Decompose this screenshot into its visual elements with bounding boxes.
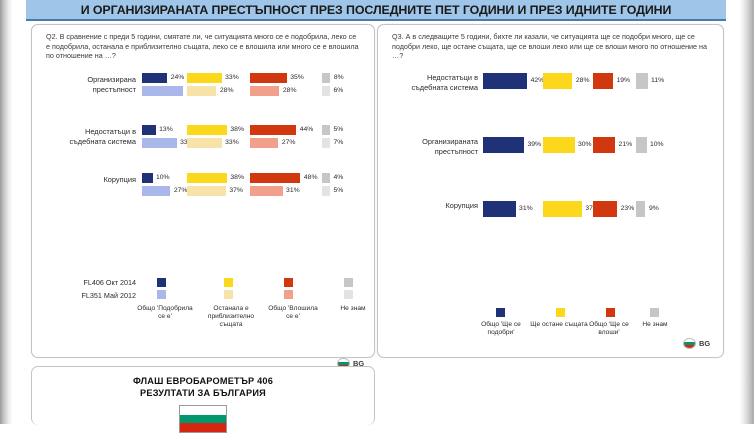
bar-value-label: 19%: [614, 73, 633, 89]
legend-swatch: [344, 278, 353, 287]
bar-segment: [250, 173, 300, 183]
bar-value-label: 33%: [223, 73, 242, 83]
page-left-gutter: [0, 0, 12, 424]
bar-value-label: 31%: [517, 201, 536, 217]
bar-segment: [636, 137, 647, 153]
legend-category-label: Не знам: [324, 305, 382, 313]
chart-q3: Недостатъци всъдебната система42%28%19%1…: [378, 73, 723, 273]
page-right-gutter: [740, 0, 754, 424]
legend-swatch: [606, 308, 615, 317]
bar-value-label: 48%: [301, 173, 320, 183]
legend-category-label: Общо 'Ще се подобри': [472, 321, 530, 337]
bar-value-label: 4%: [331, 173, 346, 183]
question-q2-text: Q2. В сравнение с преди 5 години, смятат…: [46, 32, 362, 61]
legend-swatch: [556, 308, 565, 317]
legend-swatch: [650, 308, 659, 317]
bar-value-label: 13%: [157, 125, 176, 135]
bar-value-label: 23%: [618, 201, 637, 217]
legend-swatch: [224, 278, 233, 287]
bar-segment: [593, 137, 615, 153]
legend-swatch: [157, 290, 166, 299]
chart-row-label: Корупция: [378, 201, 484, 211]
bar-segment: [187, 186, 226, 196]
footer-title: ФЛАШ ЕВРОБАРОМЕТЪР 406 РЕЗУЛТАТИ ЗА БЪЛГ…: [32, 375, 374, 399]
bar-segment: [322, 73, 330, 83]
bar-segment: [250, 186, 283, 196]
bar-value-label: 5%: [331, 125, 346, 135]
bar-segment: [543, 201, 582, 217]
bar-segment: [142, 73, 167, 83]
legend-series-name: FL406 Окт 2014: [32, 277, 136, 290]
bar-value-label: 30%: [576, 137, 595, 153]
bg-flag-icon: [683, 338, 696, 349]
bar-segment: [322, 186, 330, 196]
legend-series-names: FL406 Окт 2014FL351 Май 2012: [32, 277, 136, 302]
bar-segment: [142, 86, 183, 96]
bar-segment: [187, 86, 216, 96]
bar-value-label: 6%: [331, 86, 346, 96]
bar-value-label: 31%: [284, 186, 303, 196]
bar-segment: [322, 86, 330, 96]
panel-q2: Q2. В сравнение с преди 5 години, смятат…: [31, 24, 375, 358]
bar-value-label: 10%: [648, 137, 667, 153]
bar-value-label: 38%: [228, 125, 247, 135]
legend-swatch: [157, 278, 166, 287]
bar-value-label: 35%: [288, 73, 307, 83]
bar-value-label: 39%: [525, 137, 544, 153]
bar-segment: [187, 138, 222, 148]
bar-value-label: 28%: [217, 86, 236, 96]
country-flag-q3: BG: [683, 338, 710, 349]
chart-row-label: Корупция: [32, 175, 142, 185]
bar-value-label: 38%: [228, 173, 247, 183]
bar-segment: [250, 86, 279, 96]
bar-segment: [142, 125, 156, 135]
chart-q2: Организиранапрестъпност24%33%35%8%39%28%…: [32, 73, 374, 253]
legend-q2: FL406 Окт 2014FL351 Май 2012Общо 'Подобр…: [32, 277, 374, 357]
bar-value-label: 11%: [649, 73, 668, 89]
bar-segment: [187, 173, 227, 183]
chart-row-label: Организиранатапрестъпност: [378, 137, 484, 156]
header-banner: И ОРГАНИЗИРАНАТА ПРЕСТЪПНОСТ ПРЕЗ ПОСЛЕД…: [26, 0, 726, 21]
bar-segment: [483, 137, 524, 153]
bar-segment: [187, 125, 227, 135]
bar-value-label: 28%: [280, 86, 299, 96]
bar-segment: [636, 201, 645, 217]
chart-row-label: Недостатъци всъдебната система: [378, 73, 484, 92]
legend-category-label: Общо 'Подобрила се е': [136, 305, 194, 321]
bar-value-label: 7%: [331, 138, 346, 148]
legend-swatch: [224, 290, 233, 299]
legend-category-label: Общо 'Влошила се е': [264, 305, 322, 321]
bar-segment: [543, 73, 572, 89]
bar-value-label: 8%: [331, 73, 346, 83]
question-q3-text: Q3. А в следващите 5 години, бихте ли ка…: [392, 32, 711, 61]
bar-value-label: 44%: [297, 125, 316, 135]
bar-segment: [322, 125, 330, 135]
legend-category-label: Не знам: [626, 321, 684, 329]
chart-row-label: Организиранапрестъпност: [32, 75, 142, 94]
bar-value-label: 27%: [279, 138, 298, 148]
legend-q3: Общо 'Ще се подобри'Ще остане същатаОбщо…: [378, 308, 723, 358]
footer-title-line2: РЕЗУЛТАТИ ЗА БЪЛГАРИЯ: [32, 387, 374, 399]
bar-segment: [593, 201, 617, 217]
bar-value-label: 21%: [616, 137, 635, 153]
bar-segment: [483, 201, 516, 217]
legend-swatch: [284, 290, 293, 299]
bar-segment: [142, 138, 177, 148]
bar-value-label: 24%: [168, 73, 187, 83]
legend-series-name: FL351 Май 2012: [32, 290, 136, 303]
bar-segment: [250, 138, 278, 148]
bar-segment: [543, 137, 575, 153]
bar-segment: [322, 173, 330, 183]
panel-q3: Q3. А в следващите 5 години, бихте ли ка…: [377, 24, 724, 358]
footer-box: ФЛАШ ЕВРОБАРОМЕТЪР 406 РЕЗУЛТАТИ ЗА БЪЛГ…: [31, 366, 375, 425]
bar-segment: [142, 173, 153, 183]
bar-segment: [593, 73, 613, 89]
legend-category-label: Останала е приблизително същата: [202, 305, 260, 330]
legend-swatch: [344, 290, 353, 299]
bar-segment: [187, 73, 222, 83]
bar-value-label: 28%: [573, 73, 592, 89]
chart-row-label: Недостатъци всъдебната система: [32, 127, 142, 146]
bar-segment: [142, 186, 170, 196]
bg-flag-large-icon: [179, 405, 227, 433]
bar-segment: [250, 73, 287, 83]
bar-value-label: 37%: [227, 186, 246, 196]
country-code-label: BG: [699, 339, 710, 348]
bar-value-label: 9%: [646, 201, 661, 217]
bar-value-label: 5%: [331, 186, 346, 196]
bar-segment: [636, 73, 648, 89]
bar-value-label: 10%: [154, 173, 173, 183]
footer-title-line1: ФЛАШ ЕВРОБАРОМЕТЪР 406: [32, 375, 374, 387]
bar-value-label: 33%: [223, 138, 242, 148]
legend-swatch: [284, 278, 293, 287]
bar-segment: [483, 73, 527, 89]
bar-segment: [250, 125, 296, 135]
legend-swatch: [496, 308, 505, 317]
header-banner-text: И ОРГАНИЗИРАНАТА ПРЕСТЪПНОСТ ПРЕЗ ПОСЛЕД…: [81, 3, 672, 19]
bar-segment: [322, 138, 330, 148]
